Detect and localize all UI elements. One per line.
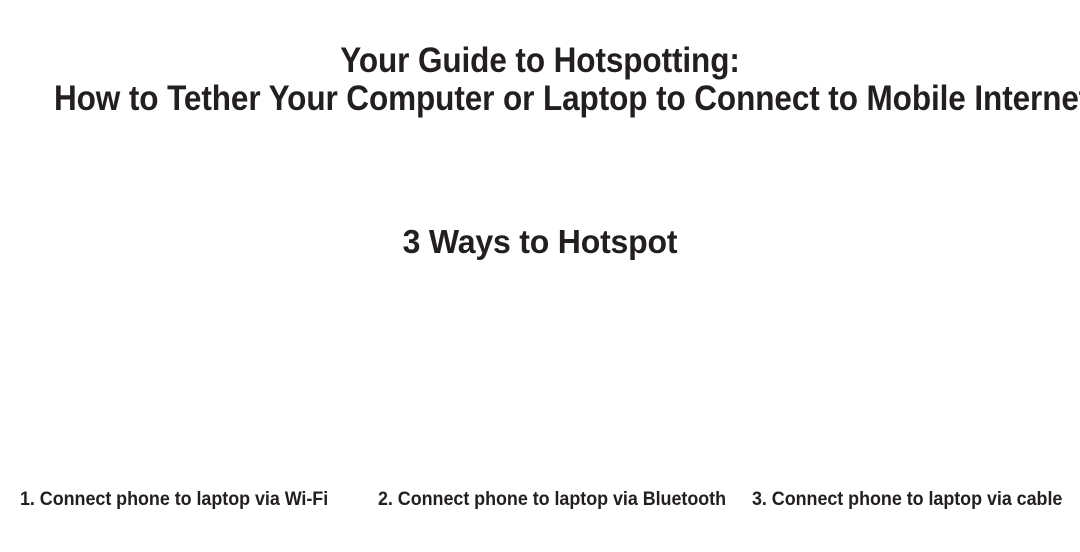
page-title: Your Guide to Hotspotting: How to Tether… xyxy=(0,42,1080,118)
illustration-wifi-tether xyxy=(0,278,360,478)
illustration-band xyxy=(0,278,1080,478)
caption-method-3: 3. Connect phone to laptop via cable xyxy=(752,486,1062,512)
section-heading: 3 Ways to Hotspot xyxy=(16,222,1064,262)
caption-row: 1. Connect phone to laptop via Wi-Fi 2. … xyxy=(0,486,1080,516)
illustration-cable-tether xyxy=(720,278,1080,478)
title-line-2: How to Tether Your Computer or Laptop to… xyxy=(54,80,1026,118)
caption-method-1: 1. Connect phone to laptop via Wi-Fi xyxy=(20,486,328,512)
infographic-poster: Your Guide to Hotspotting: How to Tether… xyxy=(0,0,1080,552)
title-line-1: Your Guide to Hotspotting: xyxy=(54,42,1026,80)
illustration-bluetooth-tether xyxy=(360,278,720,478)
caption-method-2: 2. Connect phone to laptop via Bluetooth xyxy=(378,486,726,512)
